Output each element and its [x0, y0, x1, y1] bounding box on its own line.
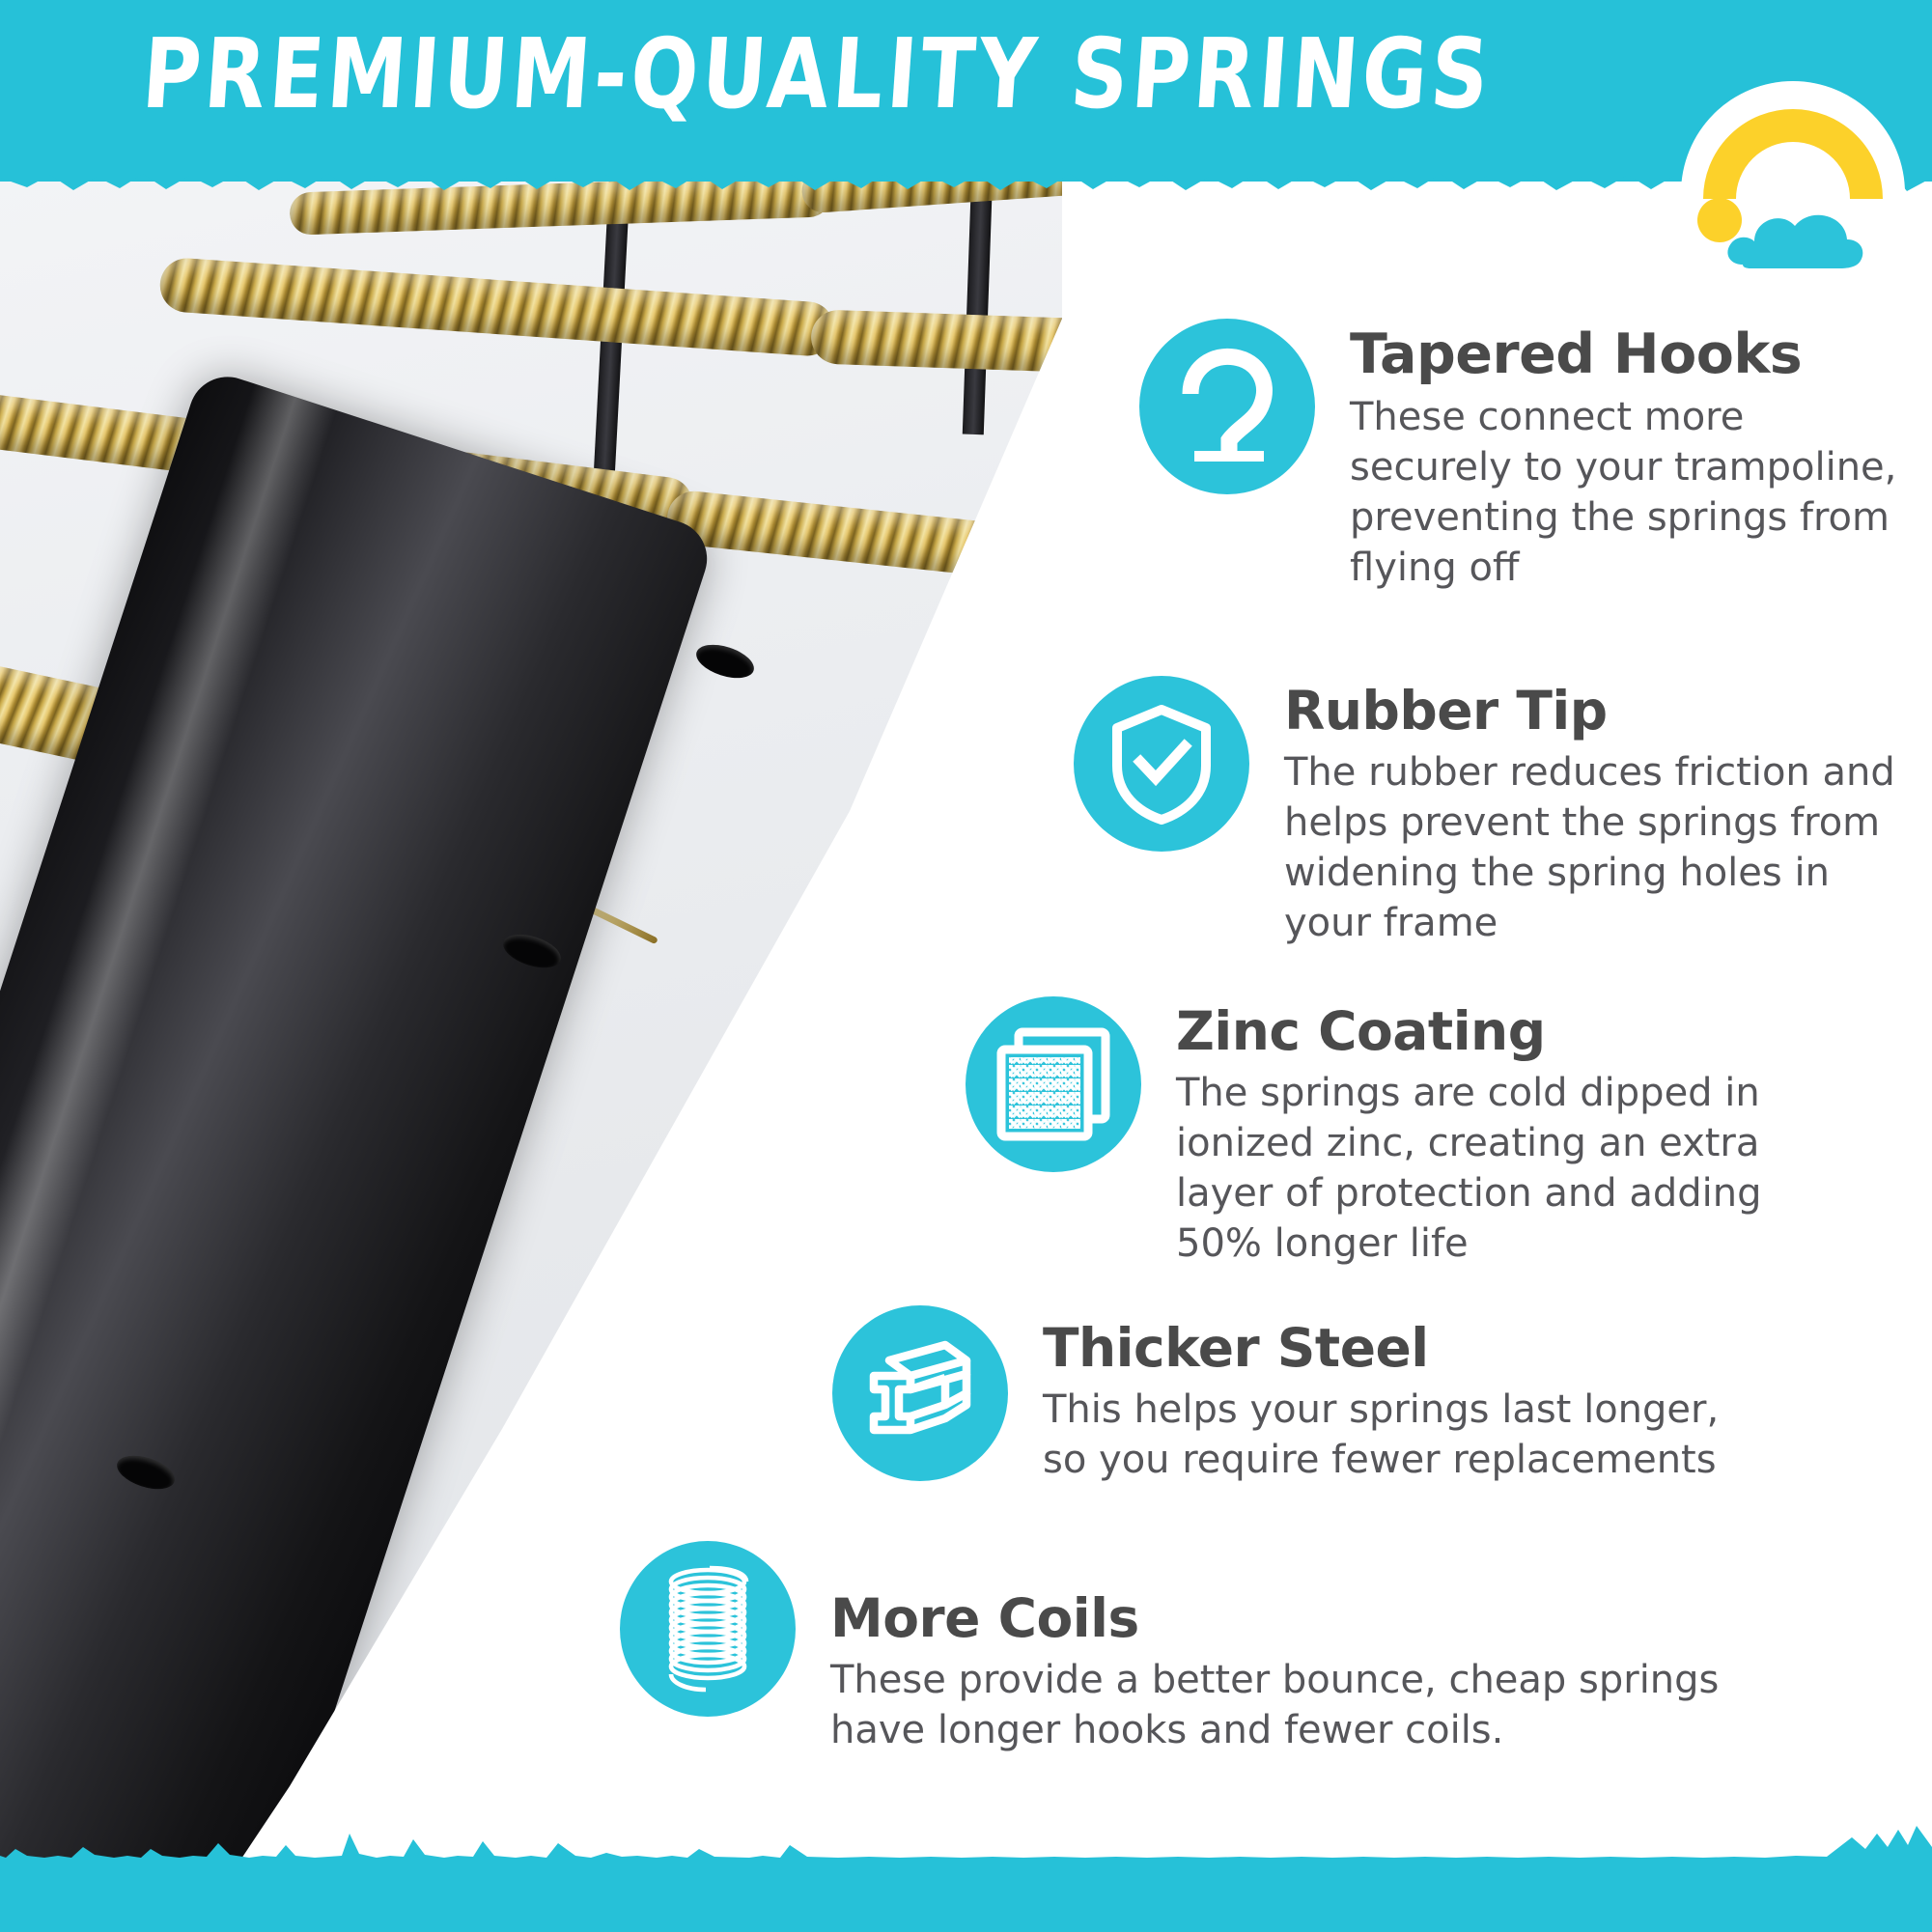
sun-cloud-logo [1675, 75, 1912, 312]
feature-title: Rubber Tip [1284, 684, 1895, 740]
feature-body: These connect more securely to your tram… [1350, 392, 1896, 593]
feature-body: The springs are cold dipped in ionized z… [1176, 1068, 1762, 1269]
feature-item-zinc-coating[interactable]: Zinc Coating The springs are cold dipped… [966, 996, 1762, 1269]
feature-body: These provide a better bounce, cheap spr… [830, 1655, 1719, 1755]
feature-item-thicker-steel[interactable]: Thicker Steel This helps your springs la… [832, 1305, 1719, 1485]
feature-title: More Coils [830, 1591, 1719, 1647]
zinc-sheets-icon [966, 996, 1141, 1172]
shield-check-icon [1074, 676, 1249, 852]
feature-title: Tapered Hooks [1350, 326, 1896, 384]
feature-title: Zinc Coating [1176, 1004, 1762, 1060]
feature-body: The rubber reduces friction and helps pr… [1284, 747, 1895, 948]
logo-sun-dot [1697, 198, 1742, 242]
feature-text: Zinc Coating The springs are cold dipped… [1176, 996, 1762, 1269]
page-title: PREMIUM-QUALITY SPRINGS [0, 27, 1641, 124]
infographic-page: Tapered Hooks These connect more securel… [0, 0, 1932, 1932]
feature-text: Rubber Tip The rubber reduces friction a… [1284, 676, 1895, 948]
tapered-hook-icon [1139, 319, 1315, 494]
feature-text: More Coils These provide a better bounce… [830, 1541, 1719, 1755]
feature-item-tapered-hooks[interactable]: Tapered Hooks These connect more securel… [1139, 319, 1896, 593]
feature-body: This helps your springs last longer, so … [1043, 1385, 1719, 1485]
feature-text: Tapered Hooks These connect more securel… [1350, 319, 1896, 593]
feature-list: Tapered Hooks These connect more securel… [0, 0, 1932, 1932]
feature-item-rubber-tip[interactable]: Rubber Tip The rubber reduces friction a… [1074, 676, 1895, 948]
feature-text: Thicker Steel This helps your springs la… [1043, 1305, 1719, 1485]
feature-title: Thicker Steel [1043, 1321, 1719, 1377]
bottom-banner [0, 1864, 1932, 1932]
coil-spring-icon [620, 1541, 796, 1717]
feature-item-more-coils[interactable]: More Coils These provide a better bounce… [620, 1541, 1719, 1755]
i-beam-icon [832, 1305, 1008, 1481]
